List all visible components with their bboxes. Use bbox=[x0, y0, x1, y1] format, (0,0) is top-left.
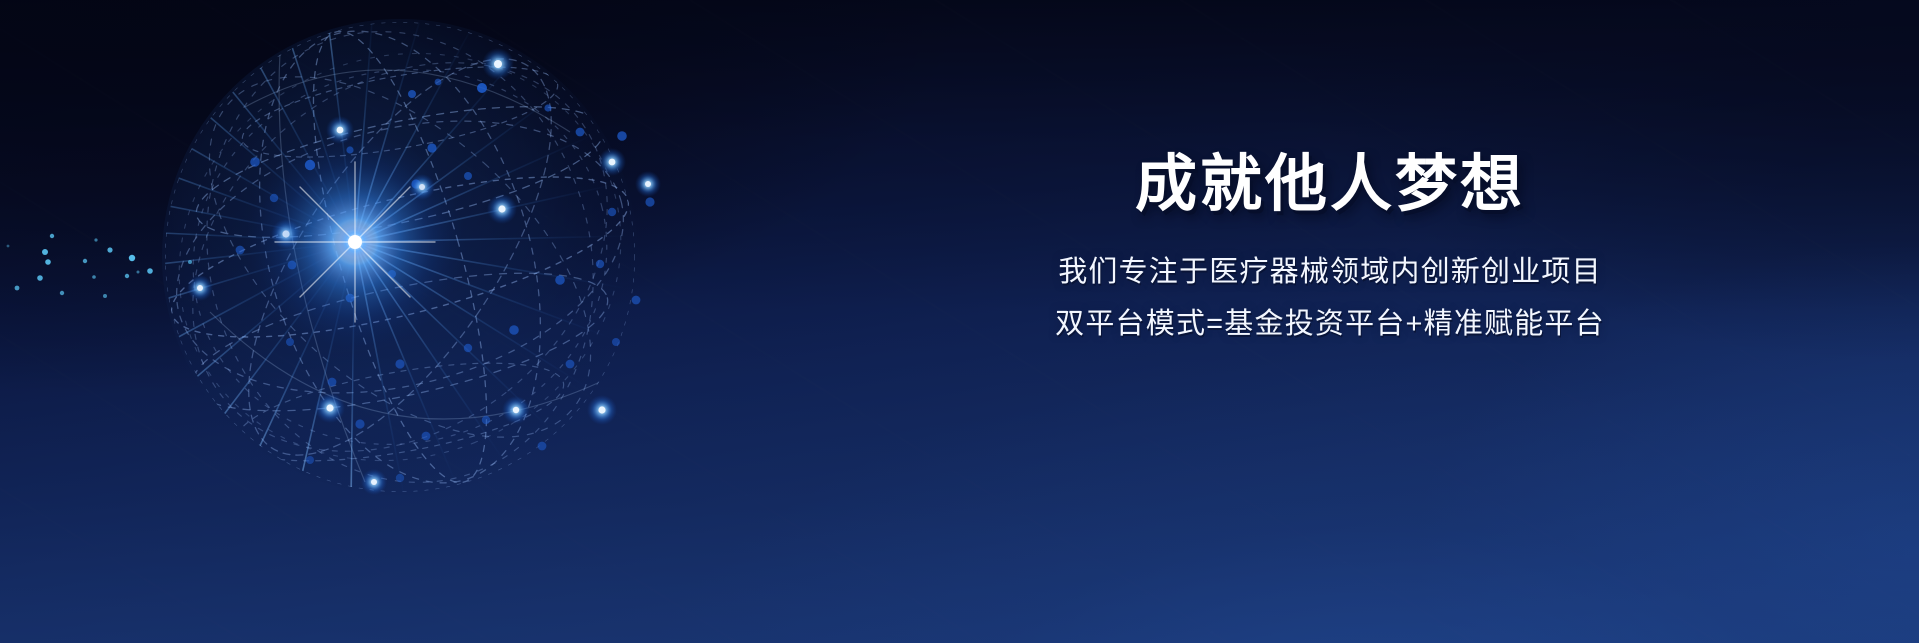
subtitle-list: 我们专注于医疗器械领域内创新创业项目 双平台模式=基金投资平台+精准赋能平台 bbox=[960, 247, 1700, 350]
globe-svg bbox=[150, 12, 670, 522]
globe-starburst bbox=[245, 132, 465, 352]
globe-network-graphic bbox=[150, 12, 670, 522]
hero-banner: 成就他人梦想 我们专注于医疗器械领域内创新创业项目 双平台模式=基金投资平台+精… bbox=[0, 0, 1919, 643]
left-particle-field bbox=[0, 200, 210, 340]
hero-copy-block: 成就他人梦想 我们专注于医疗器械领域内创新创业项目 双平台模式=基金投资平台+精… bbox=[960, 150, 1700, 351]
particle-dots bbox=[7, 234, 192, 298]
page-title: 成就他人梦想 bbox=[960, 150, 1700, 219]
subtitle-line-2: 双平台模式=基金投资平台+精准赋能平台 bbox=[960, 299, 1700, 351]
subtitle-line-1: 我们专注于医疗器械领域内创新创业项目 bbox=[960, 247, 1700, 299]
